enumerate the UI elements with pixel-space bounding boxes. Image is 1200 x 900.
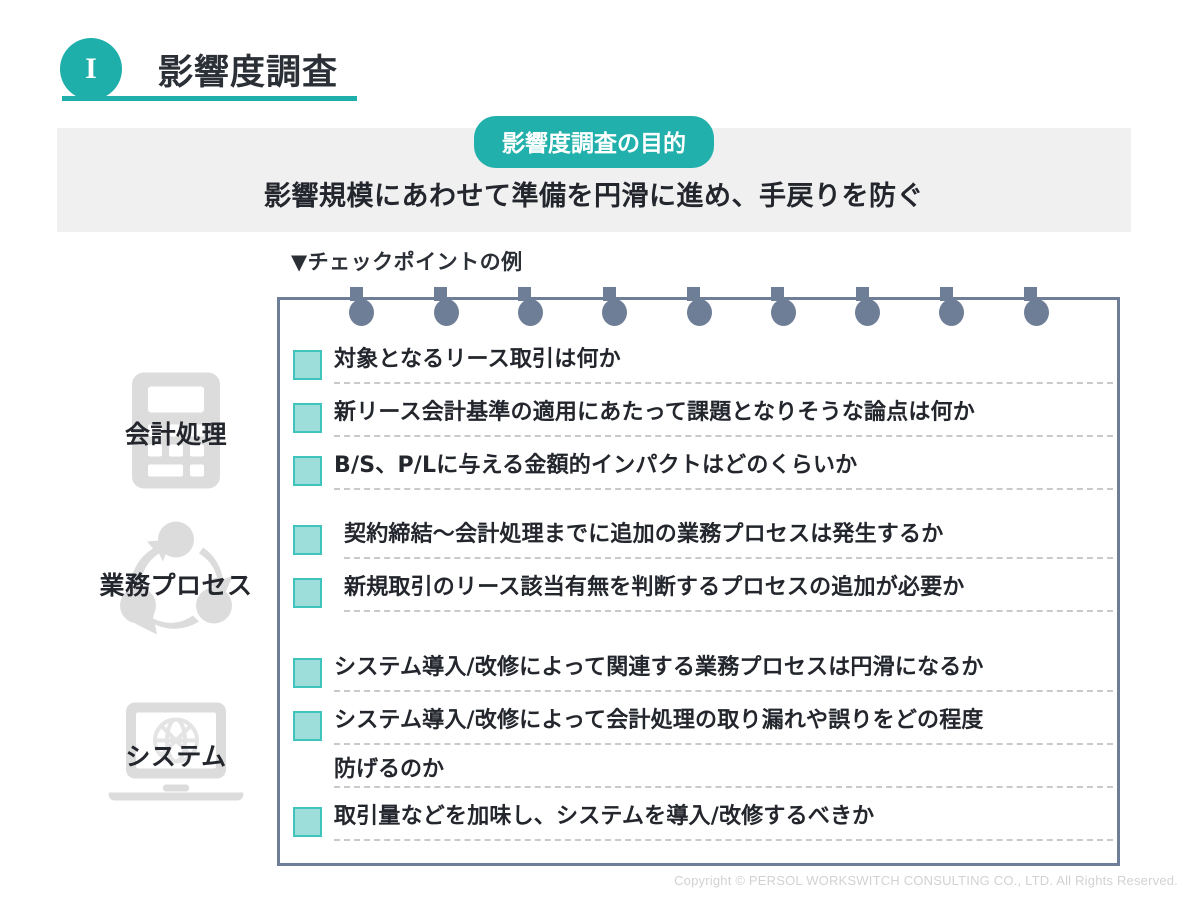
checklist-item-label: システム導入/改修によって関連する業務プロセスは円滑になるか: [334, 653, 984, 686]
checklist-item-row: 対象となるリース取引は何か: [293, 345, 1113, 380]
checklist-item-row: 取引量などを加味し、システムを導入/改修するべきか: [293, 802, 1113, 837]
checklist-item-label: 契約締結～会計処理までに追加の業務プロセスは発生するか: [344, 520, 943, 553]
checklist-item-row: 契約締結～会計処理までに追加の業務プロセスは発生するか: [293, 520, 1113, 555]
category-business-process: 業務プロセス: [85, 525, 267, 643]
checklist-item-label: 新規取引のリース該当有無を判断するプロセスの追加が必要か: [344, 573, 965, 606]
checklist-item[interactable]: システム導入/改修によって関連する業務プロセスは円滑になるか: [293, 653, 1113, 706]
pin-marker: [518, 287, 532, 326]
pin-marker: [939, 287, 953, 326]
checkpoint-caption: ▼チェックポイントの例: [291, 246, 523, 276]
category-label: 会計処理: [125, 415, 227, 451]
purpose-band: 影響度調査の目的 影響規模にあわせて準備を円滑に進め、手戻りを防ぐ: [57, 128, 1131, 232]
item-divider: [334, 786, 1113, 788]
checklist-group-system: システム導入/改修によって関連する業務プロセスは円滑になるかシステム導入/改修に…: [293, 653, 1113, 855]
checklist-item-label: システム導入/改修によって会計処理の取り漏れや誤りをどの程度: [334, 706, 984, 739]
slide-title-row: I 影響度調査: [60, 38, 338, 100]
pin-marker: [855, 287, 869, 326]
checkbox[interactable]: [293, 658, 322, 688]
copyright-footer: Copyright © PERSOL WORKSWITCH CONSULTING…: [674, 873, 1178, 888]
category-accounting: 会計処理: [85, 378, 267, 488]
item-divider: [344, 610, 1113, 612]
checkbox[interactable]: [293, 807, 322, 837]
checklist-item[interactable]: 取引量などを加味し、システムを導入/改修するべきか: [293, 802, 1113, 855]
pin-marker: [602, 287, 616, 326]
item-divider: [334, 488, 1113, 490]
item-divider: [344, 557, 1113, 559]
pin-marker: [687, 287, 701, 326]
pin-head: [687, 299, 712, 326]
page-title: 影響度調査: [158, 44, 338, 95]
pin-marker: [434, 287, 448, 326]
item-divider: [334, 839, 1113, 841]
item-divider: [334, 382, 1113, 384]
checklist-item-label: 対象となるリース取引は何か: [334, 345, 621, 378]
pin-marker: [1024, 287, 1038, 326]
category-label: システム: [125, 737, 226, 773]
checklist-item[interactable]: 新規取引のリース該当有無を判断するプロセスの追加が必要か: [293, 573, 1113, 626]
checklist-item-label: 取引量などを加味し、システムを導入/改修するべきか: [334, 802, 874, 835]
pin-head: [855, 299, 880, 326]
checkbox[interactable]: [293, 350, 322, 380]
checklist-group-accounting: 対象となるリース取引は何か新リース会計基準の適用にあたって課題となりそうな論点は…: [293, 345, 1113, 504]
checklist-item-row: 新規取引のリース該当有無を判断するプロセスの追加が必要か: [293, 573, 1113, 608]
checklist-item-row: システム導入/改修によって関連する業務プロセスは円滑になるか: [293, 653, 1113, 688]
checklist-item-row: B/S、P/Lに与える金額的インパクトはどのくらいか: [293, 451, 1113, 486]
checklist-item-label: B/S、P/Lに与える金額的インパクトはどのくらいか: [334, 451, 857, 484]
checklist-item-row: システム導入/改修によって会計処理の取り漏れや誤りをどの程度: [293, 706, 1113, 741]
category-label: 業務プロセス: [99, 566, 252, 602]
checklist-item-label: 新リース会計基準の適用にあたって課題となりそうな論点は何か: [334, 398, 975, 431]
pin-head: [518, 299, 543, 326]
item-divider: [334, 690, 1113, 692]
purpose-subtitle: 影響規模にあわせて準備を円滑に進め、手戻りを防ぐ: [57, 174, 1131, 213]
checklist-item[interactable]: B/S、P/Lに与える金額的インパクトはどのくらいか: [293, 451, 1113, 504]
pin-head: [434, 299, 459, 326]
checkbox[interactable]: [293, 403, 322, 433]
purpose-pill-label: 影響度調査の目的: [474, 116, 714, 168]
checklist-item[interactable]: システム導入/改修によって会計処理の取り漏れや誤りをどの程度防げるのか: [293, 706, 1113, 802]
checkbox[interactable]: [293, 578, 322, 608]
pin-head: [1024, 299, 1049, 326]
item-divider: [334, 435, 1113, 437]
item-divider: [334, 743, 1113, 745]
checklist-item-continuation: 防げるのか: [334, 755, 1113, 784]
checkbox[interactable]: [293, 711, 322, 741]
checklist-item[interactable]: 対象となるリース取引は何か: [293, 345, 1113, 398]
pin-head: [771, 299, 796, 326]
pin-head: [602, 299, 627, 326]
checklist-item[interactable]: 新リース会計基準の適用にあたって課題となりそうな論点は何か: [293, 398, 1113, 451]
slide-root: I 影響度調査 影響度調査の目的 影響規模にあわせて準備を円滑に進め、手戻りを防…: [0, 0, 1200, 900]
pin-marker: [771, 287, 785, 326]
title-underline: [62, 96, 357, 101]
checkbox[interactable]: [293, 456, 322, 486]
section-number-badge: I: [60, 38, 122, 100]
checklist-item[interactable]: 契約締結～会計処理までに追加の業務プロセスは発生するか: [293, 520, 1113, 573]
pin-marker: [349, 287, 363, 326]
checklist-item-row: 新リース会計基準の適用にあたって課題となりそうな論点は何か: [293, 398, 1113, 433]
checkbox[interactable]: [293, 525, 322, 555]
category-system: システム: [85, 700, 267, 810]
checklist-group-business-process: 契約締結～会計処理までに追加の業務プロセスは発生するか新規取引のリース該当有無を…: [293, 520, 1113, 626]
